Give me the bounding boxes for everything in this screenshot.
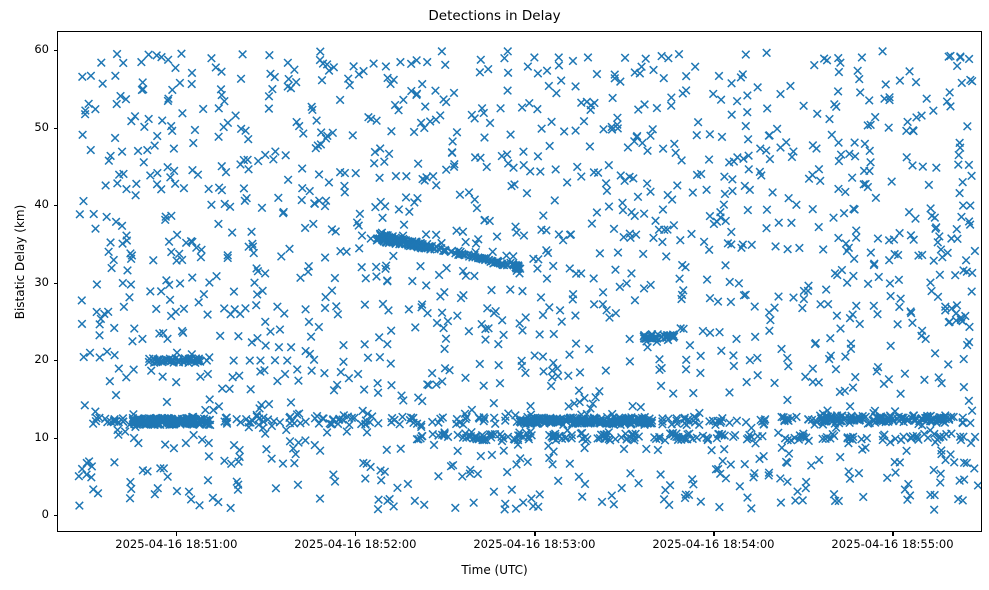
x-axis-tick-label: 2025-04-16 18:55:00	[802, 537, 982, 551]
y-axis-tick-mark	[54, 515, 58, 516]
x-axis-tick-mark	[713, 532, 714, 536]
y-axis-tick-label: 0	[5, 507, 49, 521]
y-axis-tick-mark	[54, 360, 58, 361]
x-axis-tick-mark	[355, 532, 356, 536]
x-axis-tick-label: 2025-04-16 18:54:00	[623, 537, 803, 551]
y-axis-tick-label: 60	[5, 42, 49, 56]
y-axis-tick-label: 50	[5, 120, 49, 134]
x-axis-tick-label: 2025-04-16 18:51:00	[86, 537, 266, 551]
figure: Detections in Delay 0102030405060 2025-0…	[0, 0, 989, 590]
x-axis-tick-label: 2025-04-16 18:52:00	[265, 537, 445, 551]
plot-area	[57, 31, 982, 532]
y-axis-tick-mark	[54, 438, 58, 439]
x-axis-tick-mark	[534, 532, 535, 536]
chart-title: Detections in Delay	[0, 8, 989, 24]
y-axis-tick-mark	[54, 128, 58, 129]
x-axis-tick-mark	[176, 532, 177, 536]
x-axis-label: Time (UTC)	[0, 563, 989, 577]
y-axis-tick-label: 10	[5, 430, 49, 444]
x-axis-tick-label: 2025-04-16 18:53:00	[444, 537, 624, 551]
y-axis-tick-mark	[54, 50, 58, 51]
x-axis-tick-mark	[892, 532, 893, 536]
y-axis-label: Bistatic Delay (km)	[13, 12, 27, 512]
y-axis-tick-mark	[54, 205, 58, 206]
y-axis-tick-label: 20	[5, 352, 49, 366]
y-axis-tick-mark	[54, 283, 58, 284]
y-axis-tick-label: 40	[5, 197, 49, 211]
scatter-series	[75, 48, 981, 514]
scatter-points	[58, 32, 981, 531]
y-axis-tick-label: 30	[5, 275, 49, 289]
